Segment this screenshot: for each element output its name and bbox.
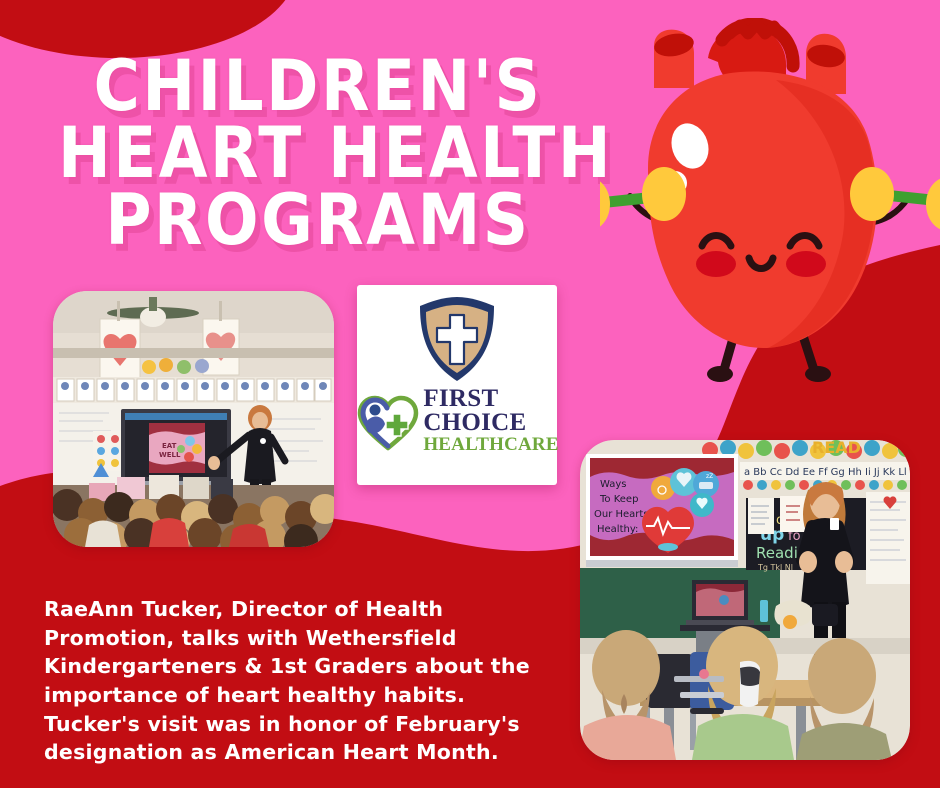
heart-person-cross-icon: [355, 388, 421, 454]
slide-line-2: To Keep: [599, 494, 638, 505]
title-line-1: CHILDREN'S: [58, 52, 578, 120]
mascot-body: [648, 72, 877, 348]
photo-classroom-right: READ a Bb Cc Dd Ee Ff Gg Hh Ii Jj Kk Ll …: [580, 440, 910, 760]
seated-students: [580, 626, 892, 760]
svg-text:zZ: zZ: [706, 473, 713, 480]
logo-word-first: FIRST: [423, 387, 498, 411]
svg-text:EAT: EAT: [162, 442, 177, 450]
caption-text: RaeAnn Tucker, Director of Health Promot…: [44, 595, 564, 767]
read-sign-text: READ: [812, 440, 861, 457]
heart-mascot-illustration: [600, 18, 940, 408]
mascot-cheek-right: [786, 251, 826, 277]
slide-line-4: Healthy:: [597, 524, 638, 535]
slide-line-3: Our Hearts: [594, 509, 649, 520]
logo-word-choice: CHOICE: [423, 411, 526, 435]
first-choice-healthcare-logo: FIRST CHOICE HEALTHCARE: [357, 285, 557, 485]
mascot-cheek-left: [696, 251, 736, 277]
logo-word-healthcare: HEALTHCARE: [423, 436, 558, 454]
shield-cross-icon: [414, 293, 500, 385]
title-line-3: PROGRAMS: [58, 186, 578, 254]
svg-text:a Bb Cc Dd Ee Ff Gg Hh Ii Jj K: a Bb Cc Dd Ee Ff Gg Hh Ii Jj Kk Ll M: [744, 467, 910, 478]
title-line-2: HEART HEALTH: [58, 119, 578, 187]
page-title: CHILDREN'S HEART HEALTH PROGRAMS: [58, 52, 578, 253]
svg-text:WELL: WELL: [159, 451, 181, 459]
slide-line-1: Ways: [600, 479, 627, 490]
poster-canvas: CHILDREN'S HEART HEALTH PROGRAMS: [0, 0, 940, 788]
svg-text:Tg Tkl Nl: Tg Tkl Nl: [757, 563, 793, 572]
photo-classroom-left: EAT WELL: [53, 291, 334, 547]
